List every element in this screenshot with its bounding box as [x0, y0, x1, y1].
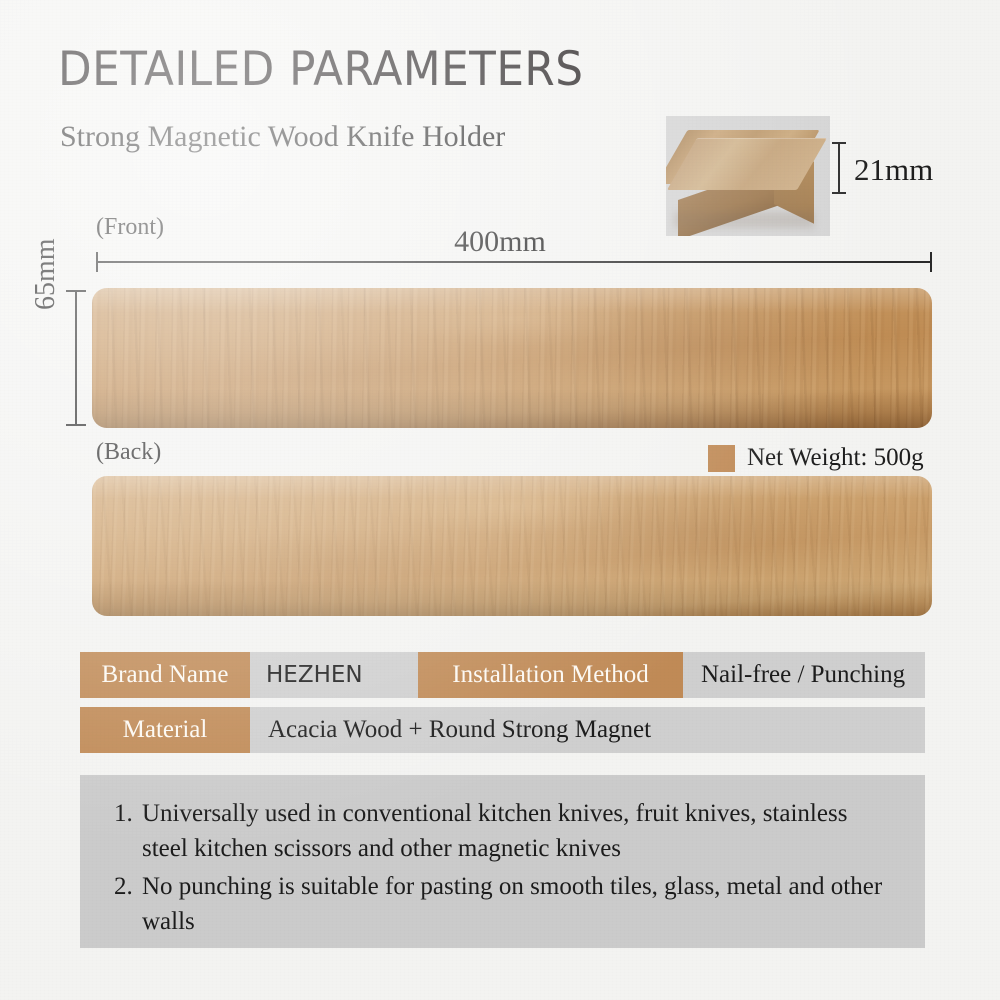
spec-table: Brand Name HEZHEN Installation Method Na… — [80, 652, 925, 762]
thickness-label: 21mm — [854, 152, 933, 188]
spec-key-installation-method: Installation Method — [418, 652, 683, 698]
dimension-cap-top — [832, 142, 846, 144]
list-item-number: 1. — [114, 797, 142, 866]
thickness-dimension-line — [832, 142, 846, 194]
wood-grain-overlay — [92, 288, 932, 428]
back-view-label: (Back) — [96, 439, 161, 466]
spec-value-brand-name: HEZHEN — [250, 652, 406, 698]
dimension-cap-right — [930, 252, 932, 272]
thickness-product-photo — [666, 116, 830, 236]
width-dimension-line — [96, 261, 932, 263]
dimension-cap-bottom — [66, 424, 86, 426]
list-item-number: 2. — [114, 870, 142, 939]
spec-value-material: Acacia Wood + Round Strong Magnet — [250, 707, 925, 753]
dimension-cap-left — [96, 252, 98, 272]
color-swatch-icon — [708, 445, 735, 472]
product-subtitle: Strong Magnetic Wood Knife Holder — [60, 120, 505, 154]
list-item-text: No punching is suitable for pasting on s… — [142, 870, 895, 939]
table-row: Material Acacia Wood + Round Strong Magn… — [80, 707, 925, 753]
knife-holder-back-image — [92, 476, 932, 616]
spec-key-material: Material — [80, 707, 250, 753]
dimension-cap-top — [66, 290, 86, 292]
knife-holder-front-image — [92, 288, 932, 428]
usage-notes-panel: 1. Universally used in conventional kitc… — [80, 775, 925, 948]
list-item: 2. No punching is suitable for pasting o… — [114, 870, 895, 939]
height-dimension-line — [75, 290, 77, 426]
cell-spacer — [406, 652, 418, 698]
list-item: 1. Universally used in conventional kitc… — [114, 797, 895, 866]
net-weight-callout: Net Weight: 500g — [708, 444, 924, 472]
width-label: 400mm — [0, 225, 1000, 259]
table-row: Brand Name HEZHEN Installation Method Na… — [80, 652, 925, 698]
height-label: 65mm — [30, 238, 62, 310]
net-weight-label: Net Weight: 500g — [747, 444, 924, 472]
spec-value-installation-method: Nail-free / Punching — [683, 652, 925, 698]
page-title: DETAILED PARAMETERS — [58, 42, 583, 97]
wood-grain-overlay — [92, 476, 932, 616]
list-item-text: Universally used in conventional kitchen… — [142, 797, 895, 866]
infographic-canvas: DETAILED PARAMETERS Strong Magnetic Wood… — [0, 0, 1000, 1000]
spec-key-brand-name: Brand Name — [80, 652, 250, 698]
dimension-cap-bottom — [832, 192, 846, 194]
